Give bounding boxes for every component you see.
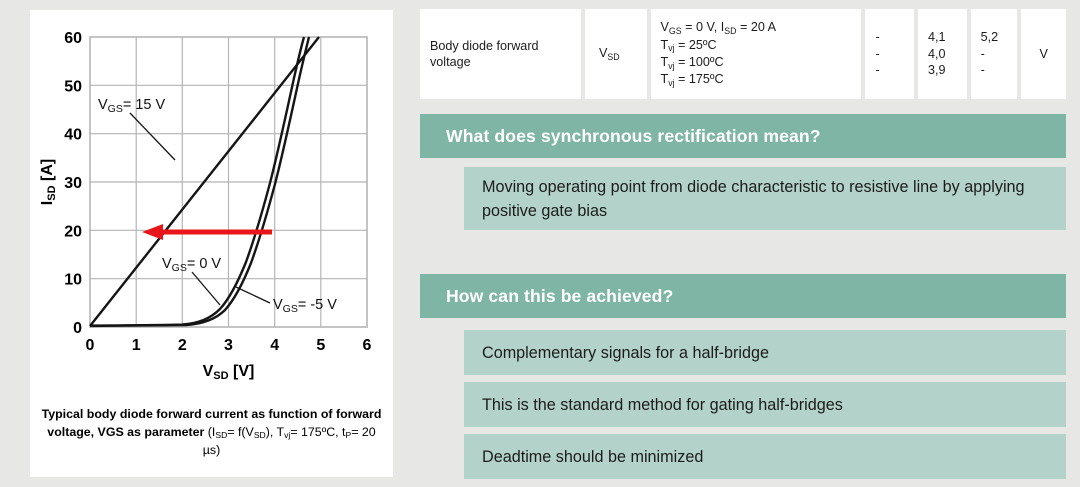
typ-values: 4,1 4,0 3,9	[928, 29, 946, 78]
svg-text:VSD [V]: VSD [V]	[203, 363, 255, 382]
parameter-text: Body diode forward voltage	[430, 38, 539, 71]
table-cell-conditions: VGS = 0 V, ISD = 20 A Tvj = 25ºC Tvj = 1…	[651, 9, 862, 99]
max-values: 5,2 - -	[981, 29, 999, 78]
caption-detail: (ISD= f(VSD), Tvj= 175ºC, tP= 20 µs)	[203, 425, 376, 458]
min-values: - - -	[875, 29, 879, 78]
conditions-text: VGS = 0 V, ISD = 20 A Tvj = 25ºC Tvj = 1…	[661, 19, 777, 89]
svg-text:2: 2	[178, 337, 187, 354]
table-cell-parameter: Body diode forward voltage	[420, 9, 581, 99]
svg-text:60: 60	[64, 30, 82, 47]
svg-text:ISD [A]: ISD [A]	[39, 159, 58, 205]
answer-box-1-1: Moving operating point from diode charac…	[464, 167, 1066, 230]
svg-text:3: 3	[224, 337, 233, 354]
table-cell-symbol: VSD	[585, 9, 646, 99]
svg-text:1: 1	[132, 337, 141, 354]
svg-text:6: 6	[363, 337, 372, 354]
svg-text:0: 0	[73, 320, 82, 337]
svg-text:4: 4	[270, 337, 279, 354]
table-cell-max: 5,2 - -	[971, 9, 1018, 99]
question-heading-1: What does synchronous rectification mean…	[420, 114, 1066, 158]
answer-box-2-3: Deadtime should be minimized	[464, 434, 1066, 479]
table-cell-typ: 4,1 4,0 3,9	[918, 9, 967, 99]
svg-text:VGS= 0 V: VGS= 0 V	[162, 256, 221, 274]
svg-text:50: 50	[64, 78, 82, 95]
slide-root: 0 10 20 30 40 50 60 0 1 2 3 4 5 6 VSD [V…	[0, 0, 1080, 487]
svg-text:20: 20	[64, 223, 82, 240]
question-heading-2: How can this be achieved?	[420, 274, 1066, 318]
symbol-text: VSD	[599, 45, 620, 62]
chart-panel: 0 10 20 30 40 50 60 0 1 2 3 4 5 6 VSD [V…	[30, 10, 393, 477]
answer-box-2-1: Complementary signals for a half-bridge	[464, 330, 1066, 375]
answer-box-2-2: This is the standard method for gating h…	[464, 382, 1066, 427]
svg-text:40: 40	[64, 127, 82, 144]
svg-text:30: 30	[64, 175, 82, 192]
svg-text:10: 10	[64, 272, 82, 289]
spec-table: Body diode forward voltage VSD VGS = 0 V…	[420, 9, 1066, 99]
body-diode-chart: 0 10 20 30 40 50 60 0 1 2 3 4 5 6 VSD [V…	[30, 10, 393, 410]
svg-text:VGS= -5 V: VGS= -5 V	[273, 297, 337, 315]
table-cell-min: - - -	[865, 9, 914, 99]
svg-text:0: 0	[86, 337, 95, 354]
chart-caption: Typical body diode forward current as fu…	[40, 406, 383, 460]
table-cell-unit: V	[1021, 9, 1066, 99]
unit-text: V	[1040, 46, 1048, 62]
svg-text:5: 5	[316, 337, 325, 354]
